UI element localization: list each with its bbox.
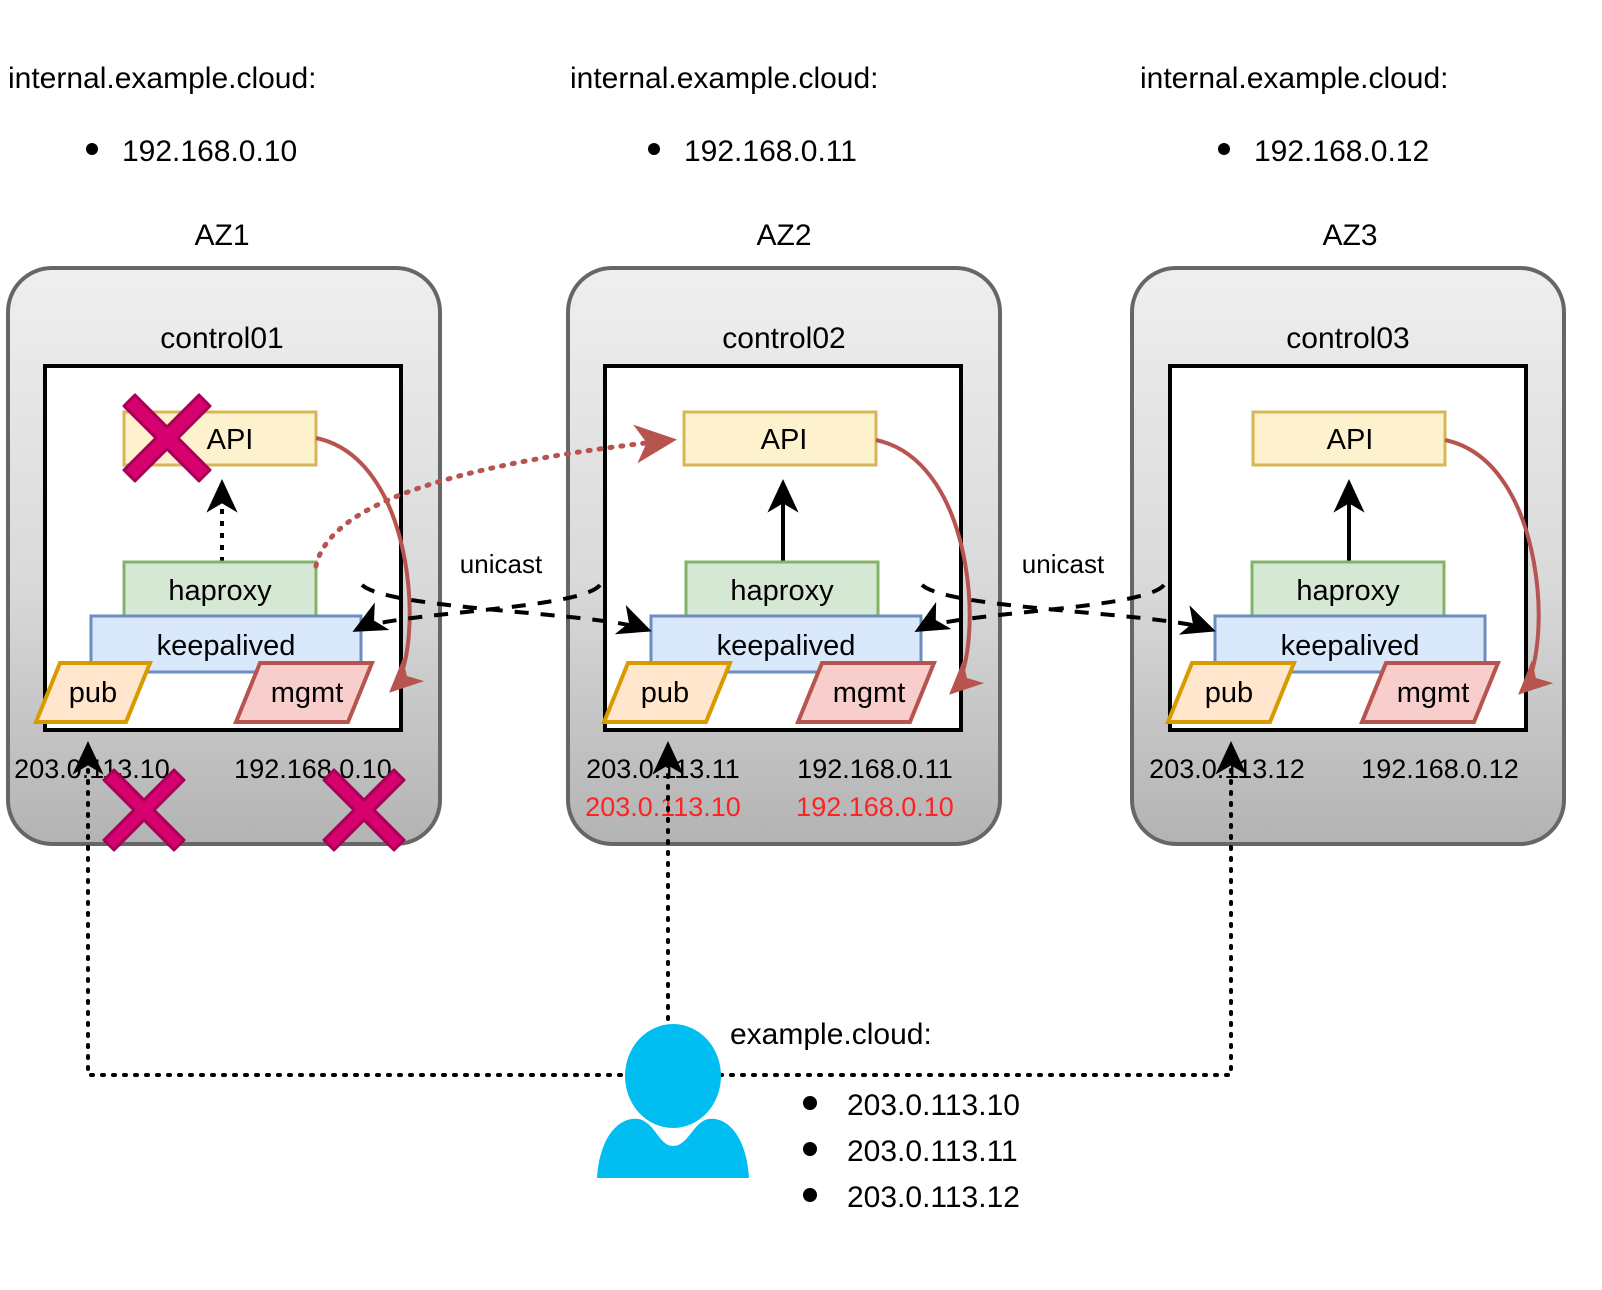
user-dns-block: example.cloud: 203.0.113.10 203.0.113.11… [730, 1018, 1020, 1214]
api-label-3: API [1327, 424, 1374, 456]
mgmt-label-3: mgmt [1397, 677, 1470, 709]
bullet-icon [1218, 143, 1230, 155]
node-name-control02: control02 [722, 322, 845, 355]
pub-ip-control02: 203.0.113.11 [586, 754, 740, 784]
header-ip-az3: 192.168.0.12 [1254, 135, 1429, 168]
header-title-az2: internal.example.cloud: [570, 62, 879, 95]
header-ip-az2: 192.168.0.11 [684, 135, 857, 168]
keepalived-label-2: keepalived [717, 630, 856, 662]
pub-ip-control01: 203.0.113.10 [14, 754, 170, 784]
unicast-label-2: unicast [1022, 549, 1105, 579]
haproxy-label-1: haproxy [168, 575, 272, 607]
node-name-control01: control01 [160, 322, 283, 355]
az-label-1: AZ1 [194, 219, 249, 252]
bullet-icon [803, 1096, 817, 1110]
user-ip-1: 203.0.113.11 [847, 1135, 1018, 1168]
pub-failover-ip-control02: 203.0.113.10 [585, 792, 741, 822]
pub-label-3: pub [1205, 677, 1253, 709]
mgmt-label-1: mgmt [271, 677, 344, 709]
pub-label-1: pub [69, 677, 117, 709]
bullet-icon [86, 143, 98, 155]
header-az1: internal.example.cloud: 192.168.0.10 [8, 62, 317, 168]
unicast-label-1: unicast [460, 549, 543, 579]
user-head-icon [625, 1024, 721, 1128]
keepalived-label-1: keepalived [157, 630, 296, 662]
pub-ip-control03: 203.0.113.12 [1149, 754, 1305, 784]
architecture-diagram: internal.example.cloud: 192.168.0.10 int… [0, 0, 1602, 1290]
bullet-icon [803, 1188, 817, 1202]
keepalived-label-3: keepalived [1281, 630, 1420, 662]
pub-label-2: pub [641, 677, 689, 709]
mgmt-failover-ip-control02: 192.168.0.10 [796, 792, 954, 822]
api-label-1: API [207, 424, 254, 456]
bullet-icon [803, 1142, 817, 1156]
header-title-az3: internal.example.cloud: [1140, 62, 1449, 95]
mgmt-label-2: mgmt [833, 677, 906, 709]
az-label-2: AZ2 [756, 219, 811, 252]
header-title-az1: internal.example.cloud: [8, 62, 317, 95]
api-label-2: API [761, 424, 808, 456]
header-az3: internal.example.cloud: 192.168.0.12 [1140, 62, 1449, 168]
haproxy-label-3: haproxy [1296, 575, 1400, 607]
mgmt-ip-control03: 192.168.0.12 [1361, 754, 1519, 784]
bullet-icon [648, 143, 660, 155]
user-ip-0: 203.0.113.10 [847, 1089, 1020, 1122]
header-ip-az1: 192.168.0.10 [122, 135, 297, 168]
user-icon [597, 1024, 749, 1178]
mgmt-ip-control02: 192.168.0.11 [797, 754, 953, 784]
haproxy-label-2: haproxy [730, 575, 834, 607]
header-az2: internal.example.cloud: 192.168.0.11 [570, 62, 879, 168]
mgmt-ip-control01: 192.168.0.10 [234, 754, 392, 784]
node-name-control03: control03 [1286, 322, 1409, 355]
user-dns-title: example.cloud: [730, 1018, 932, 1051]
user-ip-2: 203.0.113.12 [847, 1181, 1020, 1214]
az-label-3: AZ3 [1322, 219, 1377, 252]
